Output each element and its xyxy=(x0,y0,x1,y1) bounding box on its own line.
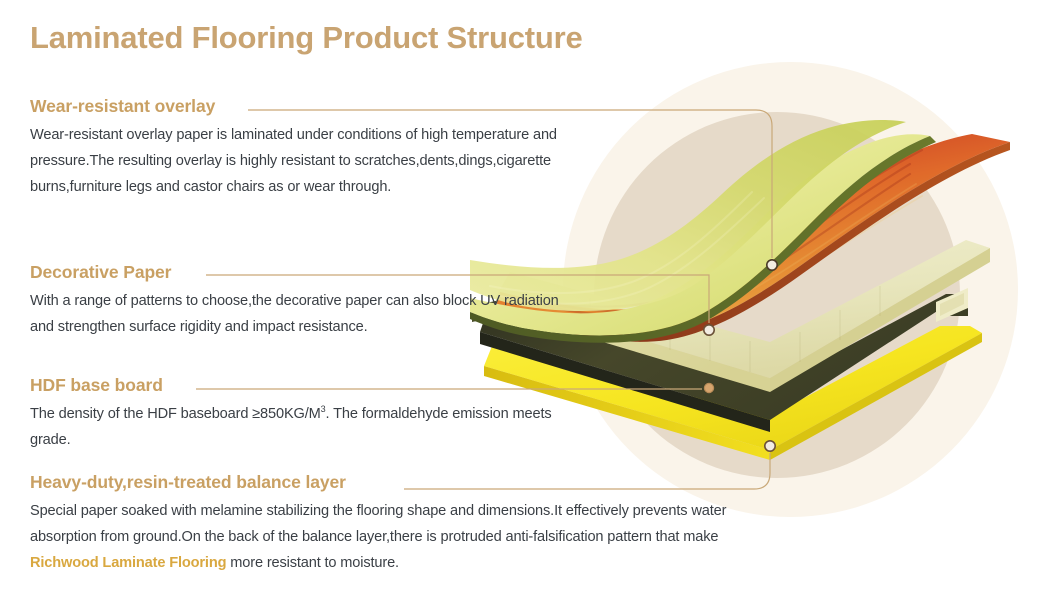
balance-body-part2: more resistant to moisture. xyxy=(226,555,399,571)
hdf-body-part1: The density of the HDF baseboard ≥850KG/… xyxy=(30,406,321,422)
section-decorative-paper: Decorative Paper With a range of pattern… xyxy=(30,262,560,340)
section-body-overlay: Wear-resistant overlay paper is laminate… xyxy=(30,122,560,200)
section-heading-hdf: HDF base board xyxy=(30,375,560,395)
section-body-balance: Special paper soaked with melamine stabi… xyxy=(30,498,770,576)
brand-name-highlight: Richwood Laminate Flooring xyxy=(30,555,226,571)
section-balance-layer: Heavy-duty,resin-treated balance layer S… xyxy=(30,472,770,576)
infographic-canvas: Laminated Flooring Product Structure Wea… xyxy=(0,0,1060,601)
page-title: Laminated Flooring Product Structure xyxy=(30,20,583,56)
section-wear-resistant-overlay: Wear-resistant overlay Wear-resistant ov… xyxy=(30,96,560,200)
section-heading-balance: Heavy-duty,resin-treated balance layer xyxy=(30,472,770,492)
section-heading-decorative: Decorative Paper xyxy=(30,262,560,282)
balance-body-part1: Special paper soaked with melamine stabi… xyxy=(30,503,726,545)
section-body-decorative: With a range of patterns to choose,the d… xyxy=(30,288,560,340)
section-hdf-base-board: HDF base board The density of the HDF ba… xyxy=(30,375,560,453)
section-heading-overlay: Wear-resistant overlay xyxy=(30,96,560,116)
section-body-hdf: The density of the HDF baseboard ≥850KG/… xyxy=(30,401,560,453)
